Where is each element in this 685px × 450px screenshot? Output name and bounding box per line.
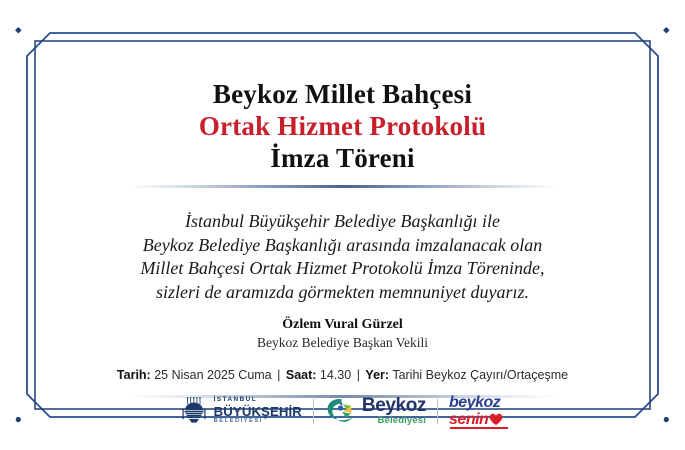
ibb-wordmark: İSTANBUL BÜYÜKŞEHİR BELEDİYESİ [214, 397, 302, 424]
logo-separator-1 [313, 399, 314, 424]
logo-beykoz-senin: beykoz senin [449, 395, 503, 428]
beykoz-senin-wordmark: beykoz senin [449, 395, 503, 428]
logo-strip: İSTANBUL BÜYÜKŞEHİR BELEDİYESİ Beykoz Be… [0, 391, 685, 431]
detail-separator-2: | [355, 368, 362, 382]
title-line-3: İmza Töreni [40, 142, 645, 174]
time-value: 14.30 [320, 368, 351, 382]
beykoz-senin-line-1: beykoz [449, 395, 503, 411]
event-title: Beykoz Millet Bahçesi Ortak Hizmet Proto… [40, 78, 645, 174]
signature-block: Özlem Vural Gürzel Beykoz Belediye Başka… [40, 316, 645, 351]
invitation-body-text: İstanbul Büyükşehir Belediye Başkanlığı … [40, 210, 645, 304]
title-line-1: Beykoz Millet Bahçesi [40, 78, 645, 110]
logo-beykoz-belediyesi: Beykoz Belediyesi [325, 396, 426, 426]
ibb-line-1: İSTANBUL [214, 397, 302, 403]
place-value: Tarihi Beykoz Çayırı/Ortaçeşme [392, 368, 568, 382]
corner-dot-top-right [663, 27, 670, 34]
title-line-2: Ortak Hizmet Protokolü [40, 110, 645, 142]
date-label: Tarih: [117, 368, 151, 382]
corner-dot-top-left [15, 27, 22, 34]
body-line-4: sizleri de aramızda görmekten memnuniyet… [40, 281, 645, 305]
ibb-line-2: BÜYÜKŞEHİR [214, 405, 302, 418]
date-value: 25 Nisan 2025 Cuma [154, 368, 271, 382]
invitation-card: Beykoz Millet Bahçesi Ortak Hizmet Proto… [0, 0, 685, 450]
divider-top [128, 185, 558, 188]
body-line-3: Millet Bahçesi Ortak Hizmet Protokolü İm… [40, 257, 645, 281]
signatory-role: Beykoz Belediye Başkan Vekili [40, 334, 645, 351]
heart-icon [489, 413, 503, 426]
istanbul-mosque-tulip-emblem-icon [182, 397, 208, 424]
time-label: Saat: [286, 368, 317, 382]
beykoz-line-2: Belediyesi [362, 416, 426, 426]
beykoz-line-1: Beykoz [362, 396, 426, 415]
card-content: Beykoz Millet Bahçesi Ortak Hizmet Proto… [40, 48, 645, 398]
logo-ibb: İSTANBUL BÜYÜKŞEHİR BELEDİYESİ [182, 397, 302, 424]
beykoz-wordmark: Beykoz Belediyesi [362, 396, 426, 426]
place-label: Yer: [365, 368, 389, 382]
ibb-line-3: BELEDİYESİ [214, 419, 302, 425]
event-details-line: Tarih: 25 Nisan 2025 Cuma | Saat: 14.30 … [40, 367, 645, 383]
body-line-1: İstanbul Büyükşehir Belediye Başkanlığı … [40, 210, 645, 234]
body-line-2: Beykoz Belediye Başkanlığı arasında imza… [40, 234, 645, 258]
logo-separator-2 [437, 399, 438, 424]
beykoz-senin-line-2: senin [449, 412, 488, 428]
beykoz-senin-line-2-row: senin [449, 412, 503, 428]
signatory-name: Özlem Vural Gürzel [40, 316, 645, 334]
beykoz-senin-underline [450, 427, 508, 429]
detail-separator-1: | [275, 368, 282, 382]
beykoz-leaf-swirl-emblem-icon [325, 396, 357, 426]
